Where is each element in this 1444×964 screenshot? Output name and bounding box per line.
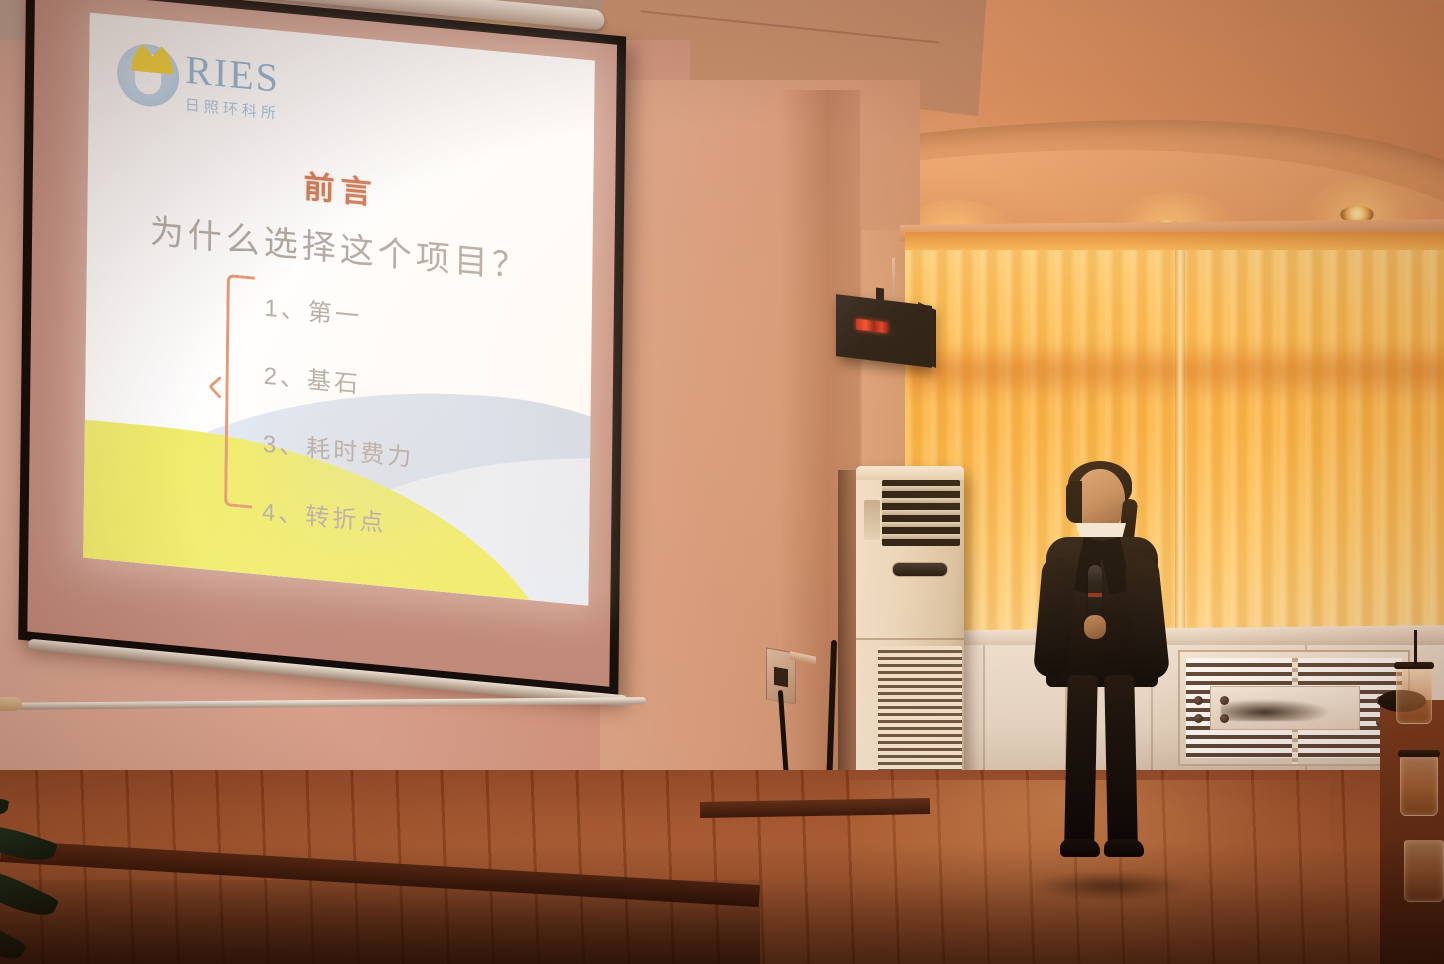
projection-screen-frame: RIES 日照环科所 前言 为什么选择这个项目？ 1、第一 2、基石 bbox=[18, 0, 626, 697]
ac-control-display[interactable] bbox=[892, 562, 948, 577]
slide-curly-brace bbox=[224, 274, 255, 509]
presenter-shoe-right bbox=[1104, 839, 1144, 857]
side-table bbox=[1380, 700, 1444, 964]
ac-grille-slat bbox=[882, 498, 960, 503]
glass-straw bbox=[1414, 630, 1417, 666]
glass-cup bbox=[1396, 668, 1432, 724]
radiator-knob bbox=[1194, 696, 1203, 705]
presenter-leg-left bbox=[1064, 675, 1098, 844]
radiator-decor-panel bbox=[1210, 686, 1360, 730]
ac-grille-slat bbox=[882, 486, 960, 491]
slide-bullet-item: 4、转折点 bbox=[262, 492, 414, 541]
potted-plant bbox=[0, 830, 130, 964]
speaker-led-display bbox=[856, 319, 888, 334]
plant-leaf bbox=[0, 906, 27, 964]
glass-cup bbox=[1404, 840, 1444, 902]
ac-grille-slat bbox=[882, 522, 960, 527]
floor-standing-air-conditioner bbox=[856, 466, 964, 814]
radiator-knob bbox=[1220, 714, 1229, 723]
presenter-hair-side bbox=[1066, 481, 1082, 523]
glass-cup-lid bbox=[1398, 750, 1440, 757]
microphone-ring bbox=[1088, 593, 1102, 597]
projected-slide: RIES 日照环科所 前言 为什么选择这个项目？ 1、第一 2、基石 bbox=[83, 13, 595, 606]
ac-panel-seam bbox=[856, 638, 964, 640]
ac-top-cap bbox=[856, 466, 964, 480]
female-presenter bbox=[1020, 465, 1190, 885]
radiator-knob bbox=[1194, 714, 1203, 723]
ac-brand-logo bbox=[864, 500, 880, 540]
wall-speaker bbox=[836, 294, 932, 368]
pointer-rod-handle[interactable] bbox=[0, 697, 22, 711]
slide-bullet-item: 1、第一 bbox=[264, 288, 416, 337]
presenter-legs bbox=[1060, 675, 1144, 855]
slide-surface: RIES 日照环科所 前言 为什么选择这个项目？ 1、第一 2、基石 bbox=[83, 13, 595, 606]
ries-logo-icon bbox=[117, 41, 180, 109]
plant-leaf bbox=[0, 858, 59, 925]
projection-screen-fabric: RIES 日照环科所 前言 为什么选择这个项目？ 1、第一 2、基石 bbox=[27, 0, 617, 687]
radiator-cover bbox=[1178, 650, 1410, 766]
radiator-knob bbox=[1220, 696, 1229, 705]
slide-bullet-item: 3、耗时费力 bbox=[263, 424, 415, 473]
ac-outlet-grille bbox=[882, 480, 960, 546]
slide-bullet-item: 2、基石 bbox=[263, 356, 415, 405]
presenter-leg-right bbox=[1104, 675, 1138, 844]
slide-bullet-list: 1、第一 2、基石 3、耗时费力 4、转折点 bbox=[261, 288, 416, 574]
presenter-head bbox=[1075, 469, 1125, 531]
glass-cup bbox=[1400, 756, 1438, 816]
conference-room-photo: RIES 日照环科所 前言 为什么选择这个项目？ 1、第一 2、基石 bbox=[0, 0, 1444, 964]
ac-grille-slat bbox=[882, 534, 960, 539]
presenter-shoe-left bbox=[1060, 839, 1100, 857]
curtain-header bbox=[905, 232, 1444, 250]
presenter-hand bbox=[1084, 615, 1106, 639]
outlet-socket bbox=[774, 667, 788, 687]
logo-wordmark: RIES bbox=[185, 50, 280, 99]
logo-text-block: RIES 日照环科所 bbox=[185, 50, 281, 124]
radiator-artwork bbox=[1221, 699, 1331, 721]
ac-grille-slat bbox=[882, 510, 960, 515]
projection-screen-assembly: RIES 日照环科所 前言 为什么选择这个项目？ 1、第一 2、基石 bbox=[18, 0, 666, 730]
ries-logo: RIES 日照环科所 bbox=[116, 37, 317, 146]
